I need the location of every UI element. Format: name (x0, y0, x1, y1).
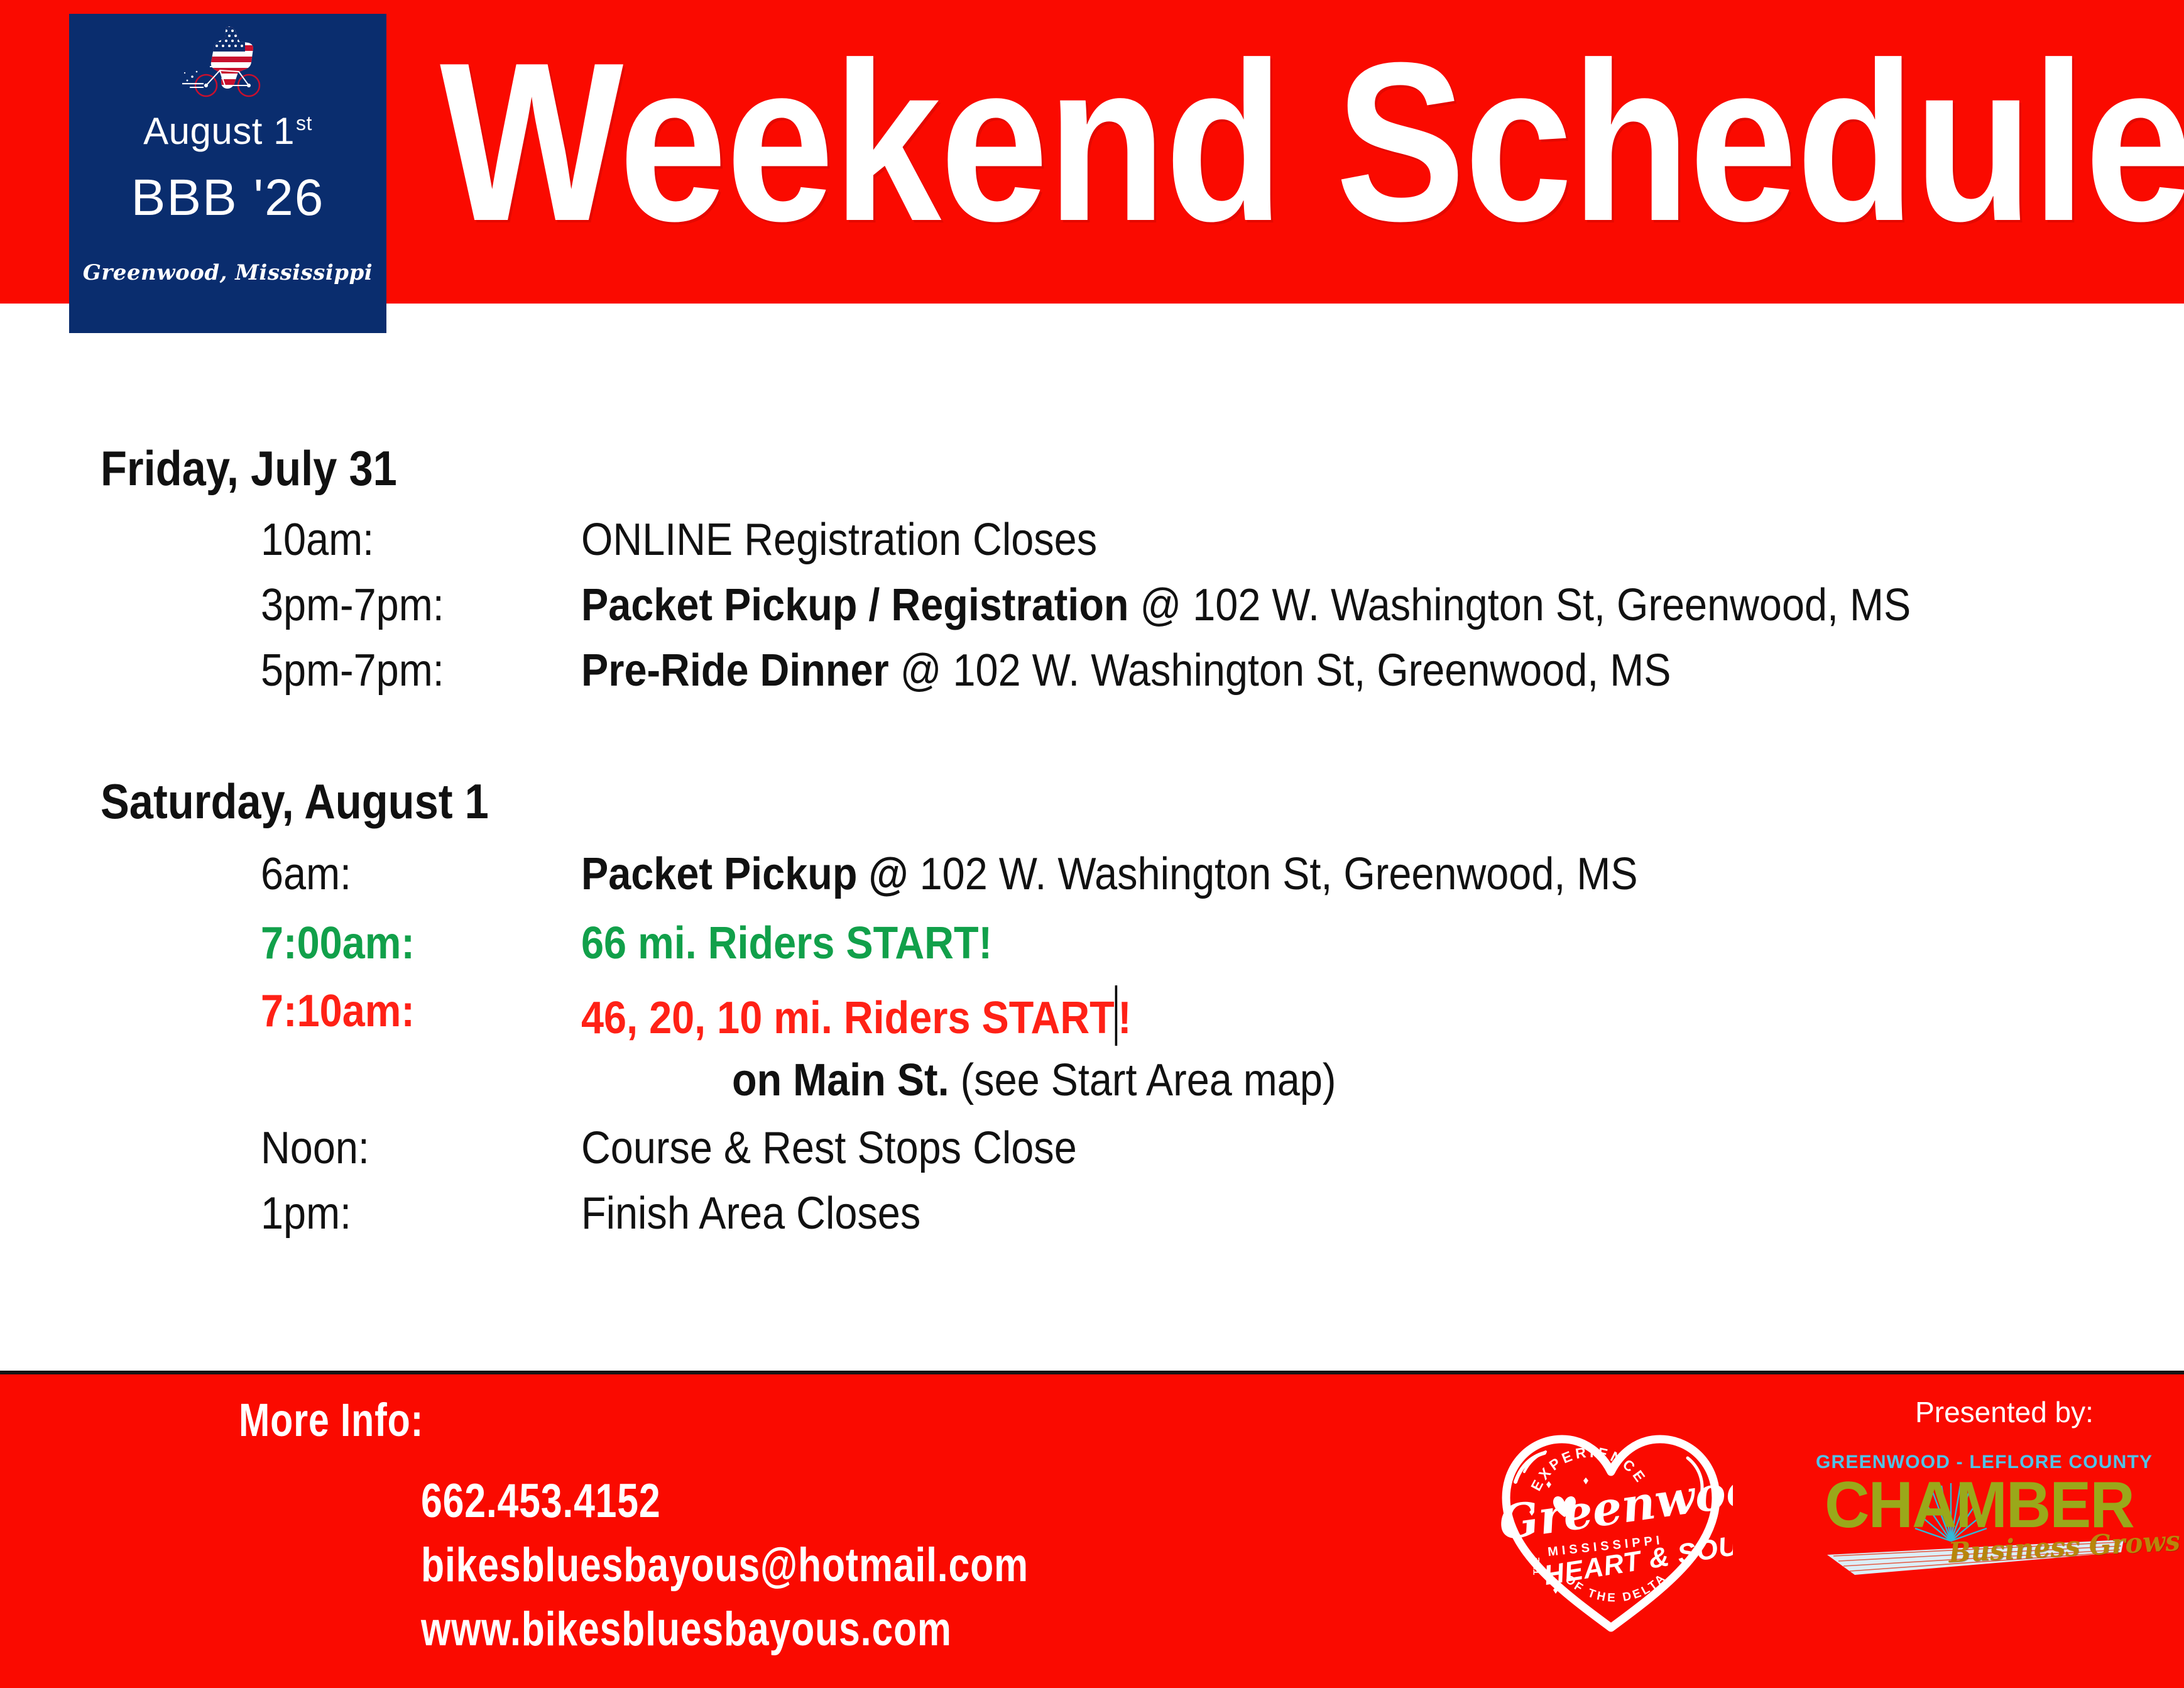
logo-date: August 1st (69, 109, 386, 153)
schedule-desc-tail: ! (1118, 993, 1132, 1043)
schedule-description: ONLINE Registration Closes (581, 514, 1097, 566)
day-heading-saturday: Saturday, August 1 (101, 773, 489, 830)
schedule-time: 5pm-7pm: (261, 645, 444, 696)
event-logo-badge: August 1st BBB '26 Greenwood, Mississipp… (69, 14, 386, 333)
schedule-row: 10am: ONLINE Registration Closes (0, 514, 2184, 569)
schedule-row: 6am: Packet Pickup @ 102 W. Washington S… (0, 848, 2184, 904)
schedule-time: 7:00am: (261, 918, 415, 969)
schedule-desc-text: ONLINE Registration Closes (581, 515, 1097, 565)
heart-logo-the: THE (1531, 1557, 1541, 1575)
schedule-row: 5pm-7pm: Pre-Ride Dinner @ 102 W. Washin… (0, 645, 2184, 700)
schedule-desc-text: 102 W. Washington St, Greenwood, MS (909, 849, 1638, 899)
schedule-desc-text: @ 102 W. Washington St, Greenwood, MS (889, 645, 1671, 696)
schedule-row: 3pm-7pm: Packet Pickup / Registration @ … (0, 579, 2184, 635)
schedule-desc-bold: Packet Pickup / Registration (581, 580, 1128, 630)
logo-event-name: BBB '26 (69, 168, 386, 227)
contact-phone[interactable]: 662.453.4152 (421, 1474, 661, 1528)
schedule-time: 6am: (261, 848, 351, 900)
schedule-note: on Main St. (see Start Area map) (732, 1055, 1336, 1106)
page-title: Weekend Schedule (440, 16, 1940, 280)
schedule-desc-text: @ 102 W. Washington St, Greenwood, MS (1128, 580, 1911, 630)
schedule-desc-bold: Pre-Ride Dinner (581, 645, 889, 696)
schedule-description: Course & Rest Stops Close (581, 1122, 1077, 1174)
greenwood-leflore-chamber-logo: GREENWOOD - LEFLORE COUNTY (1816, 1452, 2143, 1596)
experience-greenwood-heart-logo: EXPERIENCE Greenwood MISSISSIPPI HEART &… (1488, 1406, 1733, 1645)
schedule-time: 10am: (261, 514, 374, 566)
schedule-note-bold: on Main St. (732, 1055, 949, 1105)
schedule-description: Pre-Ride Dinner @ 102 W. Washington St, … (581, 645, 1671, 696)
schedule-time: Noon: (261, 1122, 369, 1174)
schedule-desc-bold: Packet Pickup @ (581, 849, 909, 899)
day-heading-friday: Friday, July 31 (101, 440, 397, 497)
schedule-time: 7:10am: (261, 985, 415, 1037)
schedule-description: Finish Area Closes (581, 1188, 920, 1239)
contact-email[interactable]: bikesbluesbayous@hotmail.com (421, 1538, 1029, 1592)
contact-website[interactable]: www.bikesbluesbayous.com (421, 1602, 952, 1657)
schedule-row-66mi-start: 7:00am: 66 mi. Riders START! (0, 918, 2184, 973)
schedule-desc-text: 46, 20, 10 mi. Riders START (581, 993, 1115, 1043)
schedule-time: 3pm-7pm: (261, 579, 444, 631)
logo-date-ordinal: st (296, 112, 312, 134)
schedule-description: 66 mi. Riders START! (581, 918, 992, 969)
text-cursor (1115, 985, 1118, 1046)
schedule-description: Packet Pickup / Registration @ 102 W. Wa… (581, 579, 1911, 631)
schedule-time: 1pm: (261, 1188, 351, 1239)
schedule-description: 46, 20, 10 mi. Riders START! (581, 985, 1132, 1046)
schedule-description: Packet Pickup @ 102 W. Washington St, Gr… (581, 848, 1638, 900)
schedule-row: Noon: Course & Rest Stops Close (0, 1122, 2184, 1178)
schedule-note-text: (see Start Area map) (949, 1055, 1336, 1105)
more-info-label: More Info: (239, 1393, 423, 1447)
presented-by-label: Presented by: (1854, 1395, 2155, 1429)
schedule-row: 1pm: Finish Area Closes (0, 1188, 2184, 1243)
logo-date-text: August 1 (143, 110, 295, 152)
cyclist-flag-icon (69, 23, 386, 104)
logo-city: Greenwood, Mississippi (69, 260, 386, 285)
schedule-row-note: on Main St. (see Start Area map) (0, 1055, 2184, 1110)
schedule-row-46-20-10mi-start: 7:10am: 46, 20, 10 mi. Riders START! (0, 985, 2184, 1041)
